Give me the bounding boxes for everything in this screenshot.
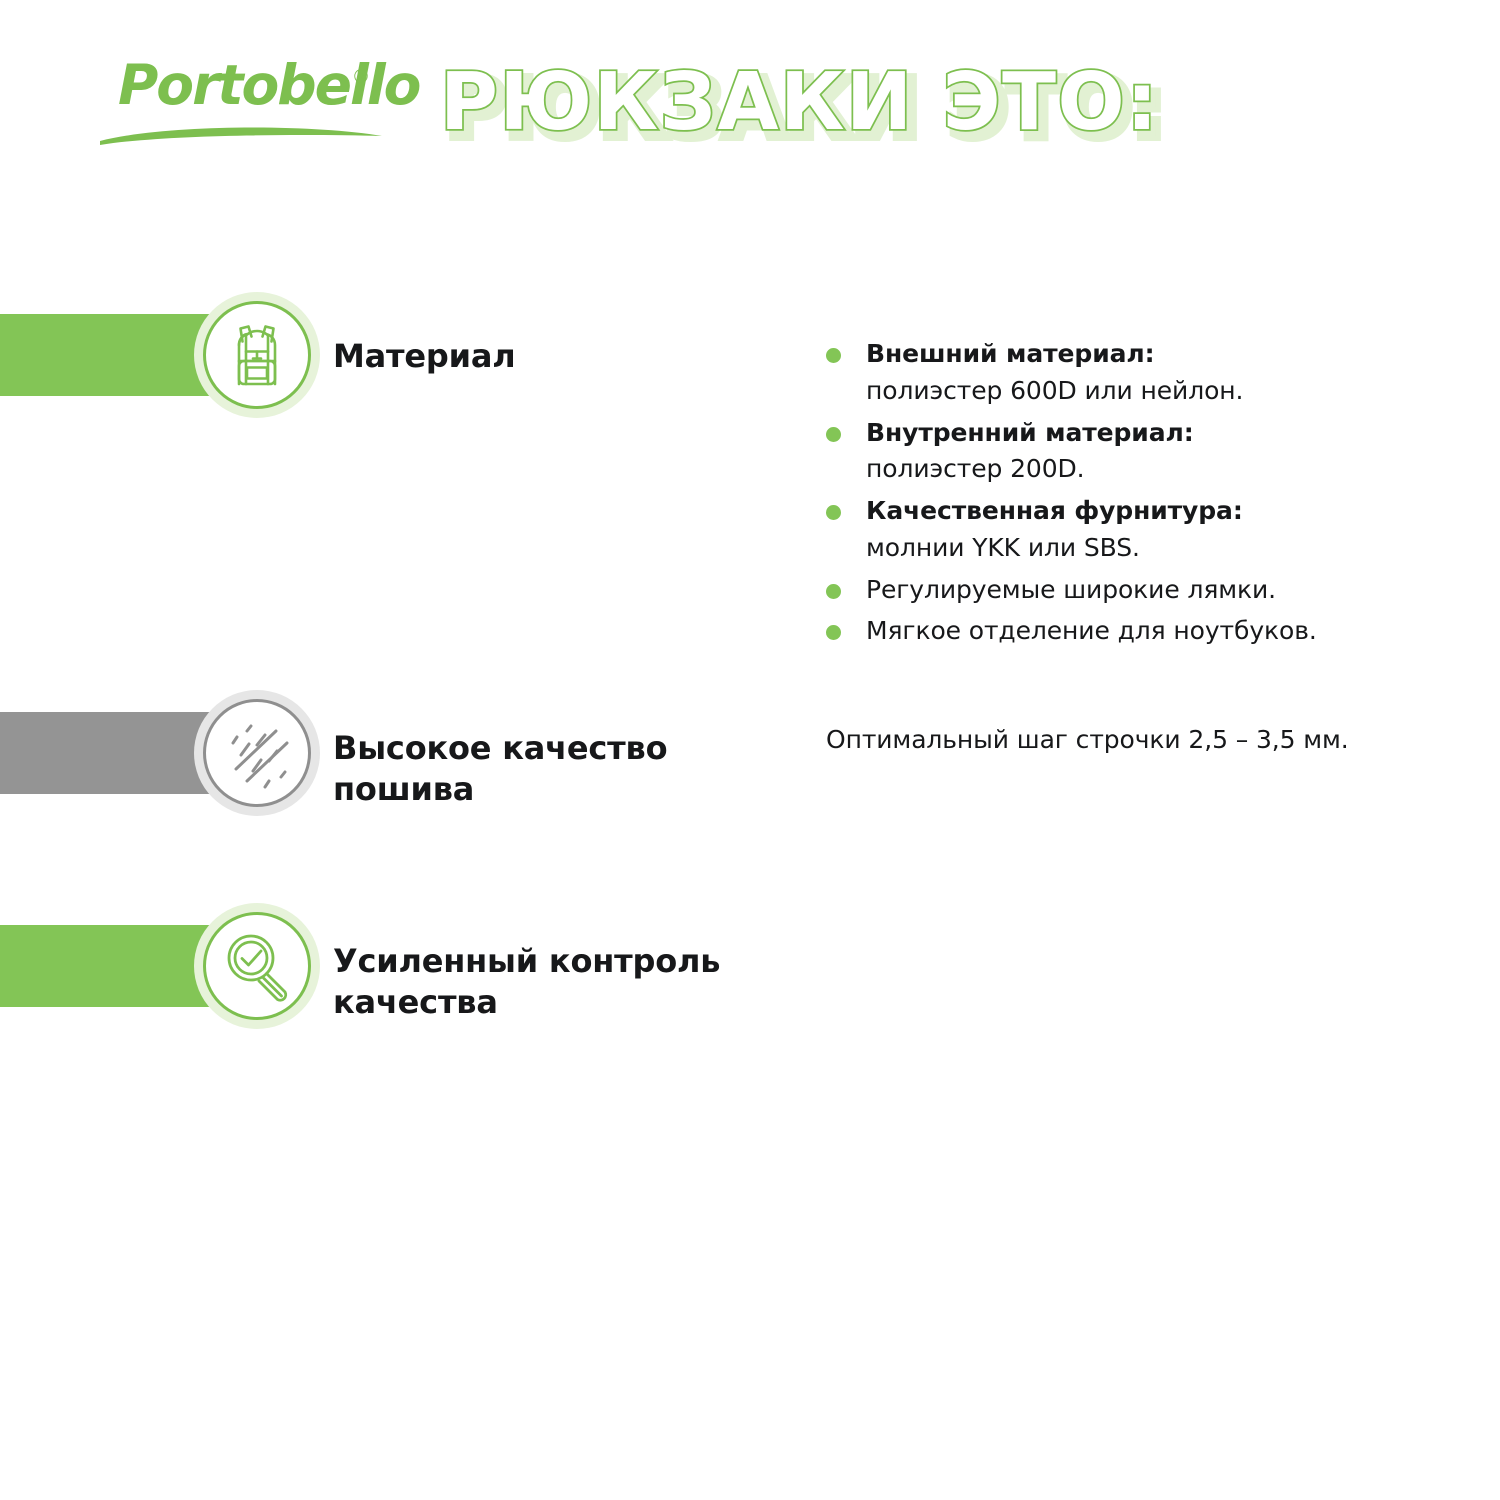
page-title: РЮКЗАКИ ЭТО: РЮКЗАКИ ЭТО: [440, 52, 1159, 152]
bullet-sub: Мягкое отделение для ноутбуков. [866, 613, 1426, 650]
row-material-heading: Материал [333, 336, 515, 377]
list-item: Регулируемые широкие лямки. [826, 572, 1426, 609]
magnifier-check-icon [203, 912, 311, 1020]
backpack-icon [203, 301, 311, 409]
bullet-dot-icon [826, 427, 841, 442]
list-item: Внешний материал: полиэстер 600D или ней… [826, 336, 1426, 410]
row-stitch-quality-heading: Высокое качество пошива [333, 728, 667, 810]
bullet-sub: Регулируемые широкие лямки. [866, 572, 1426, 609]
list-item: Качественная фурнитура: молнии YKK или S… [826, 493, 1426, 567]
stitching-icon [203, 699, 311, 807]
registered-trademark-icon: ® [354, 68, 368, 87]
page-title-text: РЮКЗАКИ ЭТО: [440, 56, 1159, 148]
infographic-page: Portobello ® РЮКЗАКИ ЭТО: РЮКЗАКИ ЭТО: [0, 0, 1500, 1500]
bullet-title: Внутренний материал: [866, 415, 1426, 452]
row-quality-control-bar [0, 925, 210, 1007]
bullet-title: Качественная фурнитура: [866, 493, 1426, 530]
row-quality-control-heading: Усиленный контроль качества [333, 941, 720, 1023]
bullet-sub: полиэстер 600D или нейлон. [866, 373, 1426, 410]
portobello-logo: Portobello ® [118, 58, 393, 148]
bullet-dot-icon [826, 625, 841, 640]
material-bullet-list: Внешний материал: полиэстер 600D или ней… [826, 336, 1426, 655]
row-stitch-quality-badge [203, 699, 311, 807]
bullet-dot-icon [826, 348, 841, 363]
bullet-sub: полиэстер 200D. [866, 451, 1426, 488]
bullet-title: Внешний материал: [866, 336, 1426, 373]
logo-wordmark: Portobello [118, 58, 419, 113]
row-material-badge [203, 301, 311, 409]
stitching-note: Оптимальный шаг строчки 2,5 – 3,5 мм. [826, 722, 1349, 757]
row-material-bar [0, 314, 210, 396]
logo-swoosh-icon [96, 120, 386, 146]
page-header: Portobello ® РЮКЗАКИ ЭТО: РЮКЗАКИ ЭТО: [0, 0, 1500, 190]
row-stitch-quality-bar [0, 712, 210, 794]
bullet-dot-icon [826, 505, 841, 520]
row-quality-control-badge [203, 912, 311, 1020]
bullet-sub: молнии YKK или SBS. [866, 530, 1426, 567]
list-item: Мягкое отделение для ноутбуков. [826, 613, 1426, 650]
bullet-dot-icon [826, 584, 841, 599]
list-item: Внутренний материал: полиэстер 200D. [826, 415, 1426, 489]
